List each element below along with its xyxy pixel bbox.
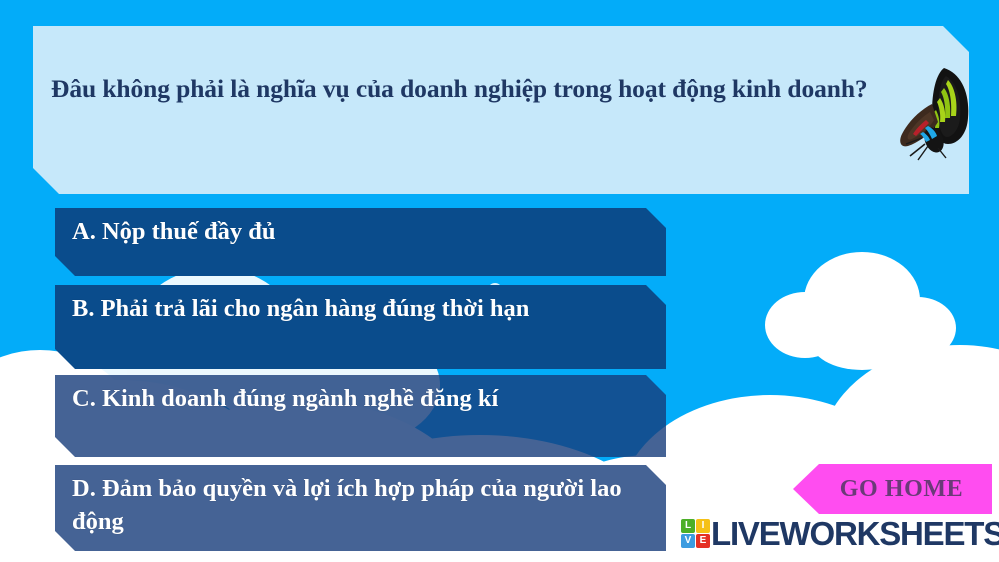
option-b-label: B. Phải trả lãi cho ngân hàng đúng thời …: [72, 295, 529, 322]
liveworksheets-mark-icon: L I V E: [681, 519, 710, 548]
question-text: Đâu không phải là nghĩa vụ của doanh ngh…: [51, 72, 931, 106]
option-b[interactable]: B. Phải trả lãi cho ngân hàng đúng thời …: [55, 285, 666, 369]
liveworksheets-wordmark: LIVEWORKSHEETS: [711, 517, 999, 550]
option-c[interactable]: C. Kinh doanh đúng ngành nghề đăng kí: [55, 375, 666, 457]
logo-cell-i: I: [696, 519, 710, 533]
option-a[interactable]: A. Nộp thuế đầy đủ: [55, 208, 666, 276]
logo-cell-l: L: [681, 519, 695, 533]
liveworksheets-logo[interactable]: L I V E LIVEWORKSHEETS: [681, 513, 999, 553]
logo-cell-v: V: [681, 534, 695, 548]
go-home-button[interactable]: GO HOME: [793, 464, 992, 514]
option-a-label: A. Nộp thuế đầy đủ: [72, 218, 276, 245]
option-c-label: C. Kinh doanh đúng ngành nghề đăng kí: [72, 385, 498, 412]
logo-cell-e: E: [696, 534, 710, 548]
quiz-slide: Đâu không phải là nghĩa vụ của doanh ngh…: [0, 0, 999, 562]
option-d[interactable]: D. Đảm bảo quyền và lợi ích hợp pháp của…: [55, 465, 666, 551]
option-d-label: D. Đảm bảo quyền và lợi ích hợp pháp của…: [72, 475, 622, 535]
question-panel: Đâu không phải là nghĩa vụ của doanh ngh…: [33, 26, 969, 194]
go-home-label: GO HOME: [822, 476, 964, 503]
